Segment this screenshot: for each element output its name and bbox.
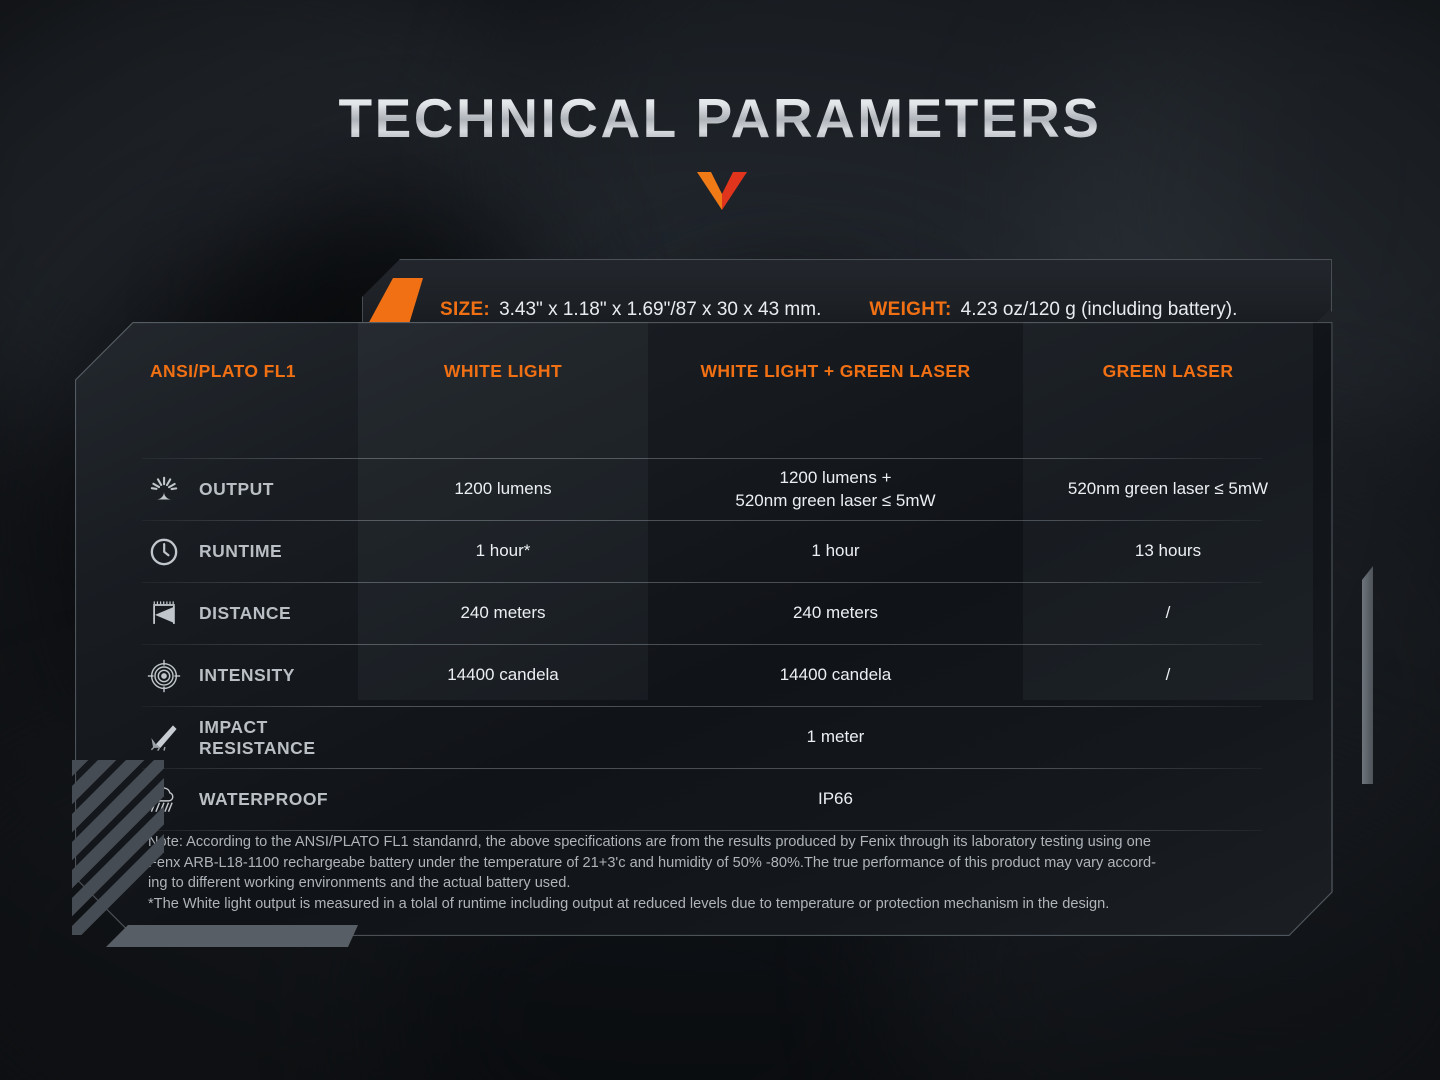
table-header-row: ANSI/PLATO FL1 WHITE LIGHT WHITE LIGHT +…	[75, 322, 1333, 420]
header-cell-ansi: ANSI/PLATO FL1	[75, 361, 358, 382]
cell-distance-green-laser: /	[1023, 602, 1313, 625]
row-label-impact-resistance: IMPACT RESISTANCE	[75, 717, 358, 759]
summary-line: SIZE: 3.43" x 1.18" x 1.69"/87 x 30 x 43…	[440, 296, 1237, 324]
cell-impact-resistance-value: 1 meter	[358, 726, 1313, 749]
row-label-text: RUNTIME	[199, 541, 282, 562]
clock-icon	[145, 533, 183, 571]
row-label-distance: DISTANCE	[75, 595, 358, 633]
cell-runtime-white-light: 1 hour*	[358, 540, 648, 563]
cell-runtime-white-light-green-laser: 1 hour	[648, 540, 1023, 563]
footnote-line-3: ing to different working environments an…	[148, 873, 1308, 894]
table-row: INTENSITY 14400 candela 14400 candela /	[75, 645, 1333, 706]
cell-intensity-white-light: 14400 candela	[358, 664, 648, 687]
header-cell-white-light-green-laser: WHITE LIGHT + GREEN LASER	[648, 361, 1023, 382]
table-row: WATERPROOF IP66	[75, 769, 1333, 830]
cell-output-white-light: 1200 lumens	[358, 478, 648, 501]
impact-arrow-icon	[145, 719, 183, 757]
cell-output-white-light-green-laser: 1200 lumens + 520nm green laser ≤ 5mW	[648, 467, 1023, 513]
row-label-text: WATERPROOF	[199, 789, 328, 810]
target-icon	[145, 657, 183, 695]
cell-intensity-green-laser: /	[1023, 664, 1313, 687]
sunburst-icon	[145, 471, 183, 509]
cell-intensity-white-light-green-laser: 14400 candela	[648, 664, 1023, 687]
size-label: SIZE:	[440, 299, 490, 321]
bottom-accent-bar	[106, 925, 358, 947]
header-cell-green-laser: GREEN LASER	[1023, 361, 1313, 382]
row-label-text: DISTANCE	[199, 603, 291, 624]
page-title: TECHNICAL PARAMETERS	[0, 86, 1440, 150]
footnote-line-2: Fenx ARB-L18-1100 rechargeabe battery un…	[148, 853, 1308, 874]
cell-distance-white-light-green-laser: 240 meters	[648, 602, 1023, 625]
weight-value: 4.23 oz/120 g (including battery).	[961, 299, 1238, 321]
table-row: IMPACT RESISTANCE 1 meter	[75, 707, 1333, 768]
cell-runtime-green-laser: 13 hours	[1023, 540, 1313, 563]
row-label-intensity: INTENSITY	[75, 657, 358, 695]
table-row: OUTPUT 1200 lumens 1200 lumens + 520nm g…	[75, 459, 1333, 520]
row-label-text: OUTPUT	[199, 479, 274, 500]
ruler-beam-icon	[145, 595, 183, 633]
footnote: Note: According to the ANSI/PLATO FL1 st…	[148, 832, 1308, 915]
footnote-line-4: *The White light output is measured in a…	[148, 894, 1308, 915]
row-divider	[142, 830, 1262, 831]
cell-output-green-laser: 520nm green laser ≤ 5mW	[1023, 478, 1313, 501]
row-label-runtime: RUNTIME	[75, 533, 358, 571]
row-label-output: OUTPUT	[75, 471, 358, 509]
hatch-stripes-decoration	[72, 760, 164, 935]
weight-label: WEIGHT:	[869, 299, 951, 321]
cell-distance-white-light: 240 meters	[358, 602, 648, 625]
right-accent-bar	[1362, 566, 1373, 784]
size-value: 3.43" x 1.18" x 1.69"/87 x 30 x 43 mm.	[499, 299, 821, 321]
row-label-text: IMPACT RESISTANCE	[199, 717, 358, 759]
table-row: RUNTIME 1 hour* 1 hour 13 hours	[75, 521, 1333, 582]
chevron-divider-icon	[697, 172, 747, 210]
table-row: DISTANCE 240 meters 240 meters /	[75, 583, 1333, 644]
row-label-text: INTENSITY	[199, 665, 295, 686]
footnote-line-1: Note: According to the ANSI/PLATO FL1 st…	[148, 832, 1308, 853]
cell-waterproof-value: IP66	[358, 788, 1313, 811]
header-cell-white-light: WHITE LIGHT	[358, 361, 648, 382]
